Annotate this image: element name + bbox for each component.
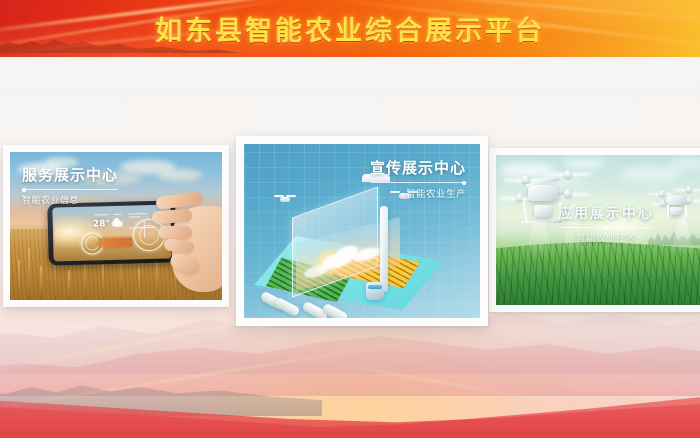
card-promotion-caption: 宣传展示中心 智能农业生产 [370,157,466,200]
wheat-stalk [40,266,42,300]
wheat-stalk [28,248,30,300]
wheat-stalk [68,270,70,300]
header-banner: 如东县智能农业综合展示平台 [0,0,700,57]
drone-rotor-hub [686,197,692,203]
crop-row-lines [496,239,700,305]
card-service-image: 28° [10,152,222,300]
wheat-stalk [102,264,104,300]
card-application-display-center[interactable]: 应用展示中心 智能农业技术 [489,148,700,312]
card-application-divider [558,227,654,228]
drone-icon [274,194,296,203]
card-application-title: 应用展示中心 [558,203,654,223]
green-crop-field [496,239,700,305]
drone-body [280,197,290,202]
drone-rotor-hub [564,170,572,178]
drone-leg [522,201,528,223]
drone-body [666,195,686,205]
app-root: 如东县智能农业综合展示平台 [0,0,700,438]
water-bucket [366,282,384,300]
finger [152,209,193,225]
drone-small-icon [648,187,700,223]
hud-data-bar [114,213,122,215]
page-title: 如东县智能农业综合展示平台 [0,0,700,57]
drone-leg [667,205,669,217]
finger [158,225,192,239]
hud-data-bar [128,216,140,218]
card-promotion-image: 宣传展示中心 智能农业生产 [244,144,480,318]
drone-rotor-hub [686,186,692,192]
card-service-divider [22,189,118,190]
card-service-caption: 服务展示中心 智能农业信息 [22,164,118,206]
hand-holding-phone [154,178,222,298]
sensor-pole [380,206,388,292]
drone-body [528,185,558,201]
card-promotion-title: 宣传展示中心 [370,157,466,178]
drone-payload-tank [670,207,682,215]
wheat-stalk [138,268,140,300]
drone-landing-skid [522,221,562,223]
card-promotion-display-center[interactable]: 宣传展示中心 智能农业生产 [236,136,488,326]
drone-rotor-hub [522,175,530,183]
card-service-display-center[interactable]: 28° [3,145,229,307]
drone-payload-tank [534,205,552,217]
cloud-shape [562,158,606,170]
hud-data-bar [95,214,109,216]
drone-leg [685,205,687,217]
drone-rotor-hub [564,189,572,197]
card-service-title: 服务展示中心 [22,164,118,185]
card-promotion-divider [370,182,466,183]
card-application-image: 应用展示中心 智能农业技术 [496,155,700,305]
wheat-stalk [18,260,20,300]
card-service-subtitle: 智能农业信息 [22,193,118,206]
card-application-subtitle: 智能农业技术 [558,231,654,244]
card-application-caption: 应用展示中心 智能农业技术 [558,203,654,244]
cloud-shape [619,166,681,181]
hud-data-bar [128,213,146,215]
hud-temperature-value: 28° [93,219,110,229]
drone-rotor-hub [659,190,665,196]
hud-status-strip [98,238,132,248]
card-promotion-subtitle: 智能农业生产 [370,186,466,200]
hud-cloud-icon [112,221,123,227]
